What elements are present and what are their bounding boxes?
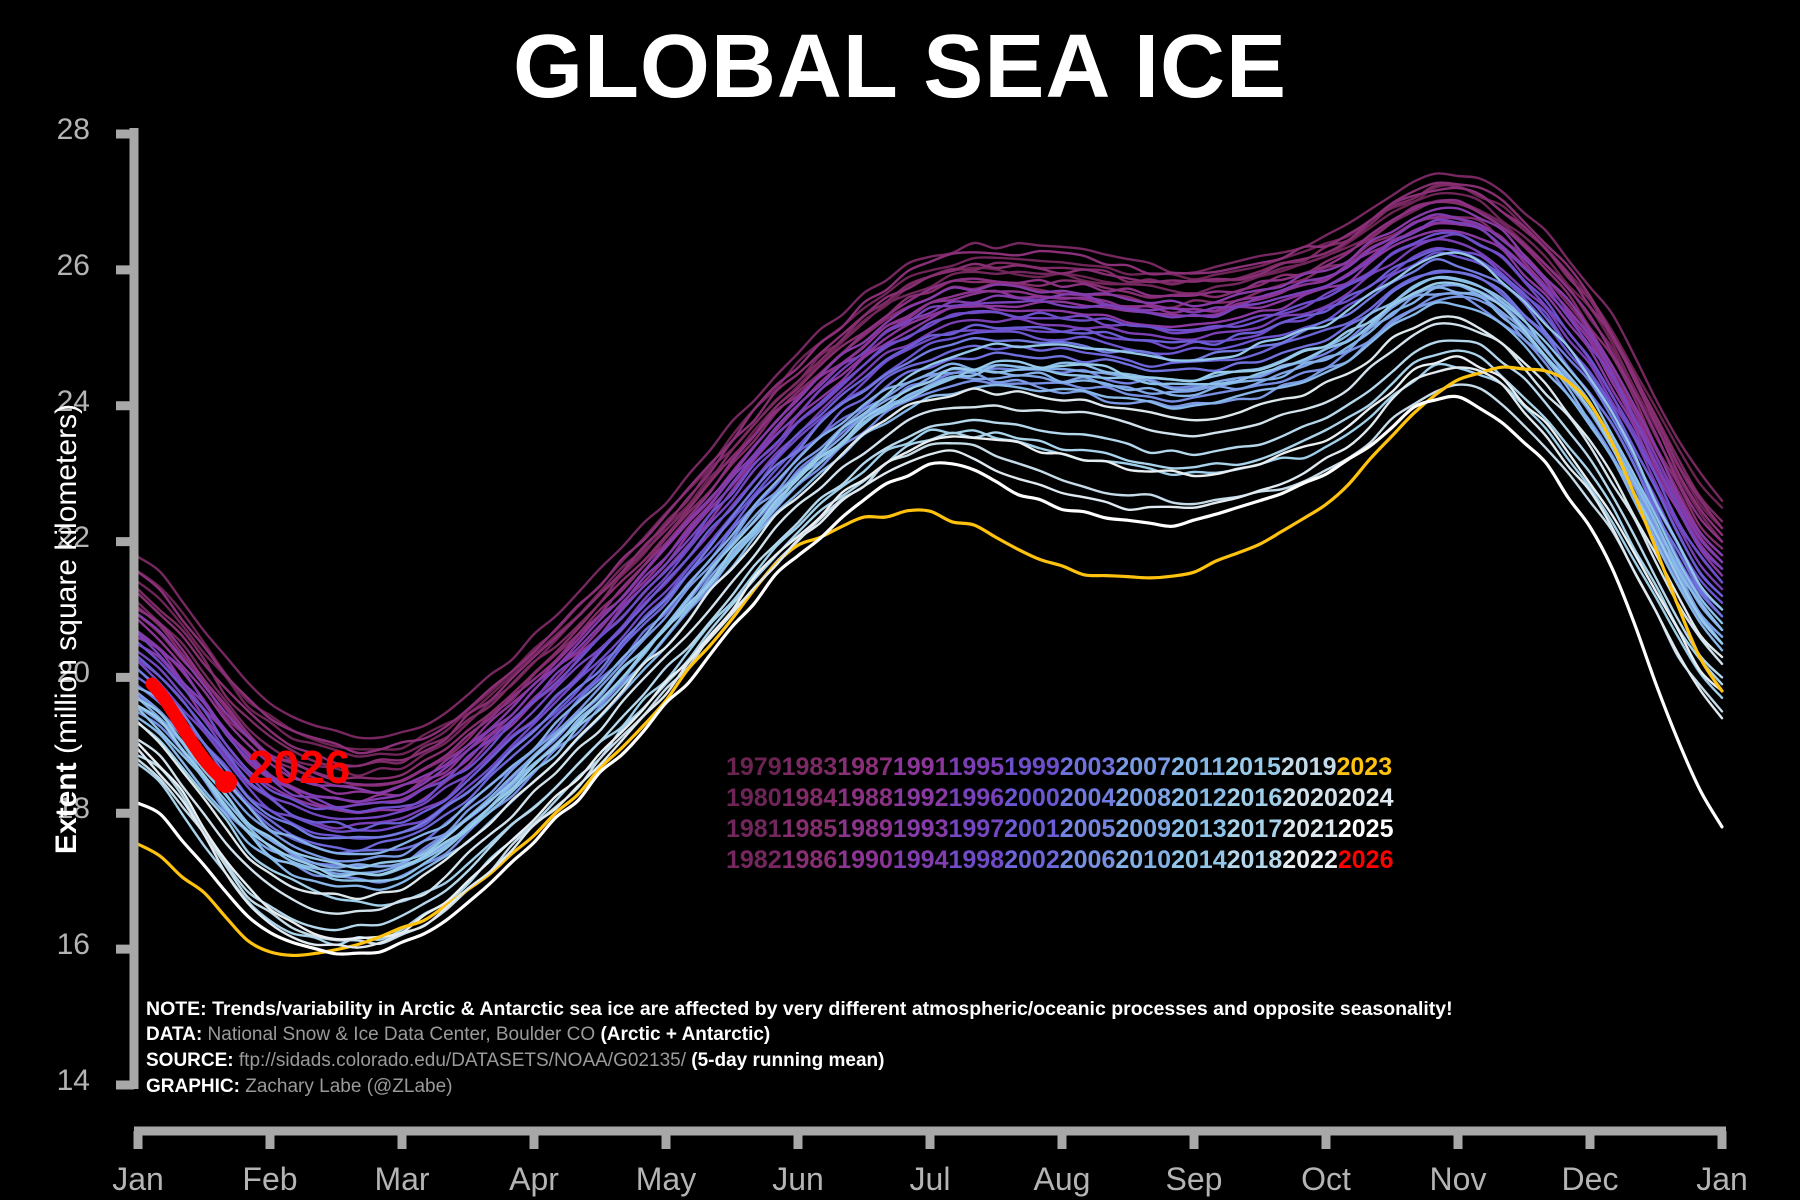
legend-item-1980[interactable]: 1980 bbox=[726, 784, 782, 813]
x-tick-label-Jul-6: Jul bbox=[870, 1161, 990, 1198]
x-tick-label-Jan-12: Jan bbox=[1662, 1161, 1782, 1198]
legend-item-2016[interactable]: 2016 bbox=[1227, 784, 1283, 813]
y-tick-label-26: 26 bbox=[0, 249, 90, 283]
legend-item-2017[interactable]: 2017 bbox=[1227, 815, 1283, 844]
footnote-line-1: DATA: National Snow & Ice Data Center, B… bbox=[146, 1022, 1446, 1048]
legend-item-2007[interactable]: 2007 bbox=[1115, 753, 1171, 782]
legend-item-1984[interactable]: 1984 bbox=[782, 784, 838, 813]
legend-row-2: 1981198519891993199720012005200920132017… bbox=[726, 814, 1386, 845]
legend-item-1983[interactable]: 1983 bbox=[782, 753, 838, 782]
x-tick-label-Mar-2: Mar bbox=[342, 1161, 462, 1198]
legend-item-2024[interactable]: 2024 bbox=[1338, 784, 1394, 813]
series-line-1981 bbox=[138, 200, 1722, 776]
legend-item-1994[interactable]: 1994 bbox=[893, 846, 949, 875]
y-axis-title-bold: Extent bbox=[50, 762, 83, 854]
legend-item-1991[interactable]: 1991 bbox=[893, 753, 949, 782]
legend-item-1996[interactable]: 1996 bbox=[949, 784, 1005, 813]
x-tick-label-Jan-0: Jan bbox=[78, 1161, 198, 1198]
footnote-text-0: Trends/variability in Arctic & Antarctic… bbox=[207, 998, 1453, 1020]
legend-row-3: 1982198619901994199820022006201020142018… bbox=[726, 845, 1386, 876]
series-line-2001 bbox=[138, 249, 1722, 830]
annotation-2026-arrowhead bbox=[215, 771, 237, 793]
legend-item-2010[interactable]: 2010 bbox=[1115, 846, 1171, 875]
x-tick-label-Dec-11: Dec bbox=[1530, 1161, 1650, 1198]
legend-item-2015[interactable]: 2015 bbox=[1225, 753, 1281, 782]
series-line-1996 bbox=[138, 220, 1722, 808]
legend-item-2019[interactable]: 2019 bbox=[1281, 753, 1337, 782]
series-line-1992 bbox=[138, 231, 1722, 813]
legend-item-1990[interactable]: 1990 bbox=[837, 846, 893, 875]
y-tick-label-28: 28 bbox=[0, 113, 90, 147]
legend-item-2023[interactable]: 2023 bbox=[1337, 753, 1393, 782]
legend-item-1998[interactable]: 1998 bbox=[949, 846, 1005, 875]
legend-item-1982[interactable]: 1982 bbox=[726, 846, 782, 875]
legend-item-1997[interactable]: 1997 bbox=[949, 815, 1005, 844]
legend-item-1987[interactable]: 1987 bbox=[837, 753, 893, 782]
footnote-text-2: ftp://sidads.colorado.edu/DATASETS/NOAA/… bbox=[234, 1050, 692, 1071]
legend-item-1981[interactable]: 1981 bbox=[726, 815, 782, 844]
footnote-tail-1: (Arctic + Antarctic) bbox=[600, 1024, 770, 1045]
legend-item-1995[interactable]: 1995 bbox=[949, 753, 1005, 782]
footnote-line-2: SOURCE: ftp://sidads.colorado.edu/DATASE… bbox=[146, 1048, 1446, 1074]
legend-item-2014[interactable]: 2014 bbox=[1171, 846, 1227, 875]
legend-item-2006[interactable]: 2006 bbox=[1060, 846, 1116, 875]
legend-item-2003[interactable]: 2003 bbox=[1060, 753, 1116, 782]
x-tick-label-Feb-1: Feb bbox=[210, 1161, 330, 1198]
legend-item-1993[interactable]: 1993 bbox=[893, 815, 949, 844]
legend-item-1999[interactable]: 1999 bbox=[1004, 753, 1060, 782]
legend-item-1979[interactable]: 1979 bbox=[726, 753, 782, 782]
legend-item-2020[interactable]: 2020 bbox=[1282, 784, 1338, 813]
y-axis-title: Extent (million square kilometers) bbox=[50, 319, 84, 939]
footnote-line-3: GRAPHIC: Zachary Labe (@ZLabe) bbox=[146, 1074, 1446, 1100]
legend-item-1992[interactable]: 1992 bbox=[893, 784, 949, 813]
legend-item-1986[interactable]: 1986 bbox=[782, 846, 838, 875]
footnote-text-3: Zachary Labe (@ZLabe) bbox=[240, 1076, 453, 1097]
footnote-line-0: NOTE: Trends/variability in Arctic & Ant… bbox=[146, 996, 1446, 1022]
x-tick-label-Apr-3: Apr bbox=[474, 1161, 594, 1198]
legend-item-1989[interactable]: 1989 bbox=[837, 815, 893, 844]
x-tick-label-May-4: May bbox=[606, 1161, 726, 1198]
x-tick-label-Jun-5: Jun bbox=[738, 1161, 858, 1198]
x-tick-label-Sep-8: Sep bbox=[1134, 1161, 1254, 1198]
series-line-1995 bbox=[138, 239, 1722, 828]
legend-item-2026[interactable]: 2026 bbox=[1338, 846, 1394, 875]
series-line-1987 bbox=[138, 188, 1722, 753]
legend-item-2022[interactable]: 2022 bbox=[1282, 846, 1338, 875]
legend-item-2009[interactable]: 2009 bbox=[1115, 815, 1171, 844]
year-legend[interactable]: 1979198319871991199519992003200720112015… bbox=[726, 752, 1386, 876]
x-tick-label-Aug-7: Aug bbox=[1002, 1161, 1122, 1198]
footnote-text-1: National Snow & Ice Data Center, Boulder… bbox=[202, 1024, 600, 1045]
legend-item-2011[interactable]: 2011 bbox=[1171, 753, 1225, 782]
legend-item-1988[interactable]: 1988 bbox=[837, 784, 893, 813]
legend-item-2004[interactable]: 2004 bbox=[1060, 784, 1116, 813]
legend-item-2025[interactable]: 2025 bbox=[1338, 815, 1394, 844]
legend-item-1985[interactable]: 1985 bbox=[782, 815, 838, 844]
footnote-label-2: SOURCE: bbox=[146, 1050, 234, 1071]
legend-item-2013[interactable]: 2013 bbox=[1171, 815, 1227, 844]
legend-item-2001[interactable]: 2001 bbox=[1004, 815, 1060, 844]
series-line-1983 bbox=[138, 185, 1722, 767]
footnote-tail-2: (5-day running mean) bbox=[691, 1050, 884, 1071]
legend-item-2012[interactable]: 2012 bbox=[1171, 784, 1227, 813]
legend-item-2000[interactable]: 2000 bbox=[1004, 784, 1060, 813]
x-tick-label-Nov-10: Nov bbox=[1398, 1161, 1518, 1198]
y-tick-label-14: 14 bbox=[0, 1064, 90, 1098]
legend-item-2002[interactable]: 2002 bbox=[1004, 846, 1060, 875]
legend-item-2005[interactable]: 2005 bbox=[1060, 815, 1116, 844]
footnotes: NOTE: Trends/variability in Arctic & Ant… bbox=[146, 996, 1446, 1100]
x-tick-label-Oct-9: Oct bbox=[1266, 1161, 1386, 1198]
legend-row-1: 1980198419881992199620002004200820122016… bbox=[726, 783, 1386, 814]
legend-row-0: 1979198319871991199519992003200720112015… bbox=[726, 752, 1386, 783]
legend-item-2021[interactable]: 2021 bbox=[1282, 815, 1338, 844]
legend-item-2018[interactable]: 2018 bbox=[1227, 846, 1283, 875]
y-axis-title-units: (million square kilometers) bbox=[50, 404, 83, 762]
annotation-2026-label: 2026 bbox=[248, 740, 350, 794]
legend-item-2008[interactable]: 2008 bbox=[1115, 784, 1171, 813]
footnote-label-3: GRAPHIC: bbox=[146, 1076, 240, 1097]
footnote-label-0: NOTE: bbox=[146, 998, 207, 1020]
footnote-label-1: DATA: bbox=[146, 1024, 202, 1045]
